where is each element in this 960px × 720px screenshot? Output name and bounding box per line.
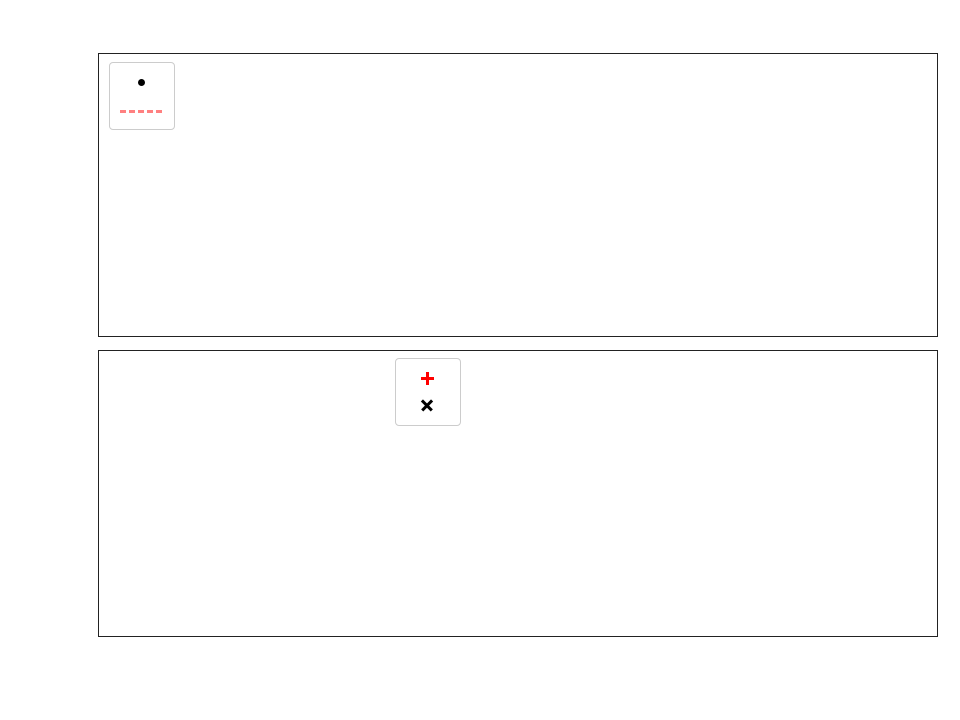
legend-item-predicted-stars[interactable] xyxy=(404,392,450,419)
bottom-panel-axes xyxy=(98,350,938,637)
top-panel-legend[interactable] xyxy=(109,62,175,130)
top-panel-axes xyxy=(98,53,938,337)
legend-item-measurements[interactable] xyxy=(118,69,164,96)
matplotlib-figure xyxy=(0,0,960,720)
legend-item-threshold[interactable] xyxy=(118,96,164,123)
bottom-panel-legend[interactable] xyxy=(395,358,461,426)
legend-item-matched-stars[interactable] xyxy=(404,365,450,392)
threshold-dashed-line-icon xyxy=(118,100,164,120)
bottom-panel-plot-area xyxy=(99,351,937,636)
measurements-dot-icon xyxy=(118,73,164,93)
predicted-stars-cross-icon xyxy=(404,396,450,416)
matched-stars-plus-icon xyxy=(404,369,450,389)
top-panel-plot-area xyxy=(99,54,937,336)
